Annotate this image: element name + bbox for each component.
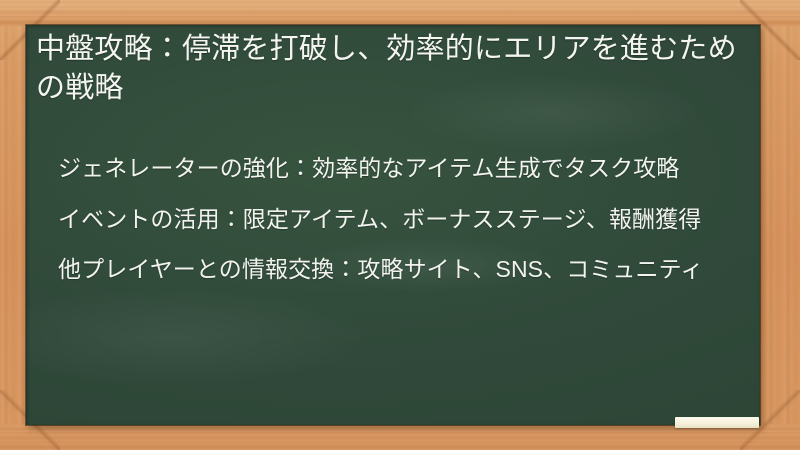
chalk-stick-icon <box>675 417 759 428</box>
slide-content: 中盤攻略：停滞を打破し、効率的にエリアを進むための戦略 ジェネレーターの強化：効… <box>26 25 760 425</box>
bullet-item: イベントの活用：限定アイテム、ボーナスステージ、報酬獲得 <box>58 203 748 236</box>
bullet-list: ジェネレーターの強化：効率的なアイテム生成でタスク攻略 イベントの活用：限定アイ… <box>58 152 748 286</box>
slide-title: 中盤攻略：停滞を打破し、効率的にエリアを進むための戦略 <box>36 30 742 109</box>
frame-rail-top <box>0 0 800 26</box>
bullet-item: ジェネレーターの強化：効率的なアイテム生成でタスク攻略 <box>58 152 748 185</box>
chalkboard-slide: 中盤攻略：停滞を打破し、効率的にエリアを進むための戦略 ジェネレーターの強化：効… <box>0 0 800 450</box>
bullet-item: 他プレイヤーとの情報交換：攻略サイト、SNS、コミュニティ <box>58 253 748 286</box>
